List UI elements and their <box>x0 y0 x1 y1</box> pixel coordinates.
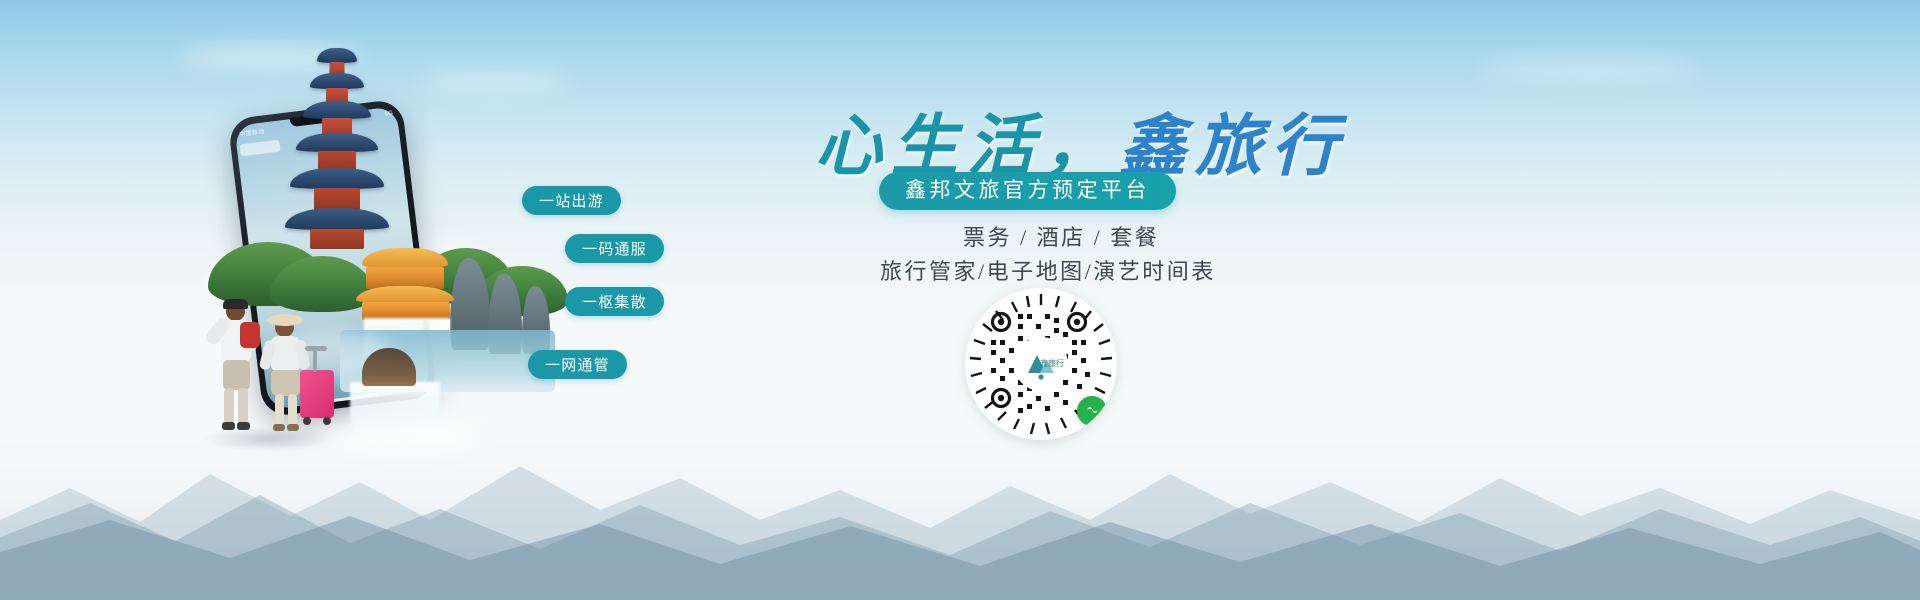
feature-pill-label: 一站出游 <box>539 190 604 211</box>
wechat-miniprogram-qr-code[interactable]: 鑫旅行 <box>965 288 1117 440</box>
feature-pill-2[interactable]: 一码通服 <box>565 234 664 263</box>
feature-pill-1[interactable]: 一站出游 <box>522 186 621 215</box>
qr-center-logo: 鑫旅行 <box>1014 337 1068 391</box>
feature-pill-label: 一码通服 <box>582 238 647 259</box>
feature-pill-3[interactable]: 一枢集散 <box>565 287 664 316</box>
platform-badge-label: 鑫邦文旅官方预定平台 <box>905 179 1150 202</box>
promo-text-block: 心生活，鑫旅行 鑫邦文旅官方预定平台 票务 / 酒店 / 套餐 旅行管家/电子地… <box>805 60 1505 540</box>
wechat-miniprogram-badge <box>1077 396 1107 426</box>
service-list-line-2: 旅行管家/电子地图/演艺时间表 <box>880 254 1216 286</box>
travel-promo-banner: 中国移动 5G <box>0 0 1920 600</box>
cloud-decoration <box>1480 58 1700 82</box>
qr-brand-text: 鑫旅行 <box>1040 360 1064 368</box>
waterfall-mist <box>330 414 480 458</box>
feature-pill-label: 一枢集散 <box>582 291 647 312</box>
brand-mountain-mark: 鑫旅行 <box>1020 343 1062 385</box>
feature-pill-label: 一网通管 <box>545 354 610 375</box>
traveler-man <box>212 302 264 432</box>
service-list-line-1: 票务 / 酒店 / 套餐 <box>963 220 1159 252</box>
platform-badge[interactable]: 鑫邦文旅官方预定平台 <box>879 172 1176 210</box>
pagoda-tower-illustration <box>282 48 392 248</box>
feature-pill-4[interactable]: 一网通管 <box>528 350 627 379</box>
miniprogram-icon <box>1084 403 1101 420</box>
